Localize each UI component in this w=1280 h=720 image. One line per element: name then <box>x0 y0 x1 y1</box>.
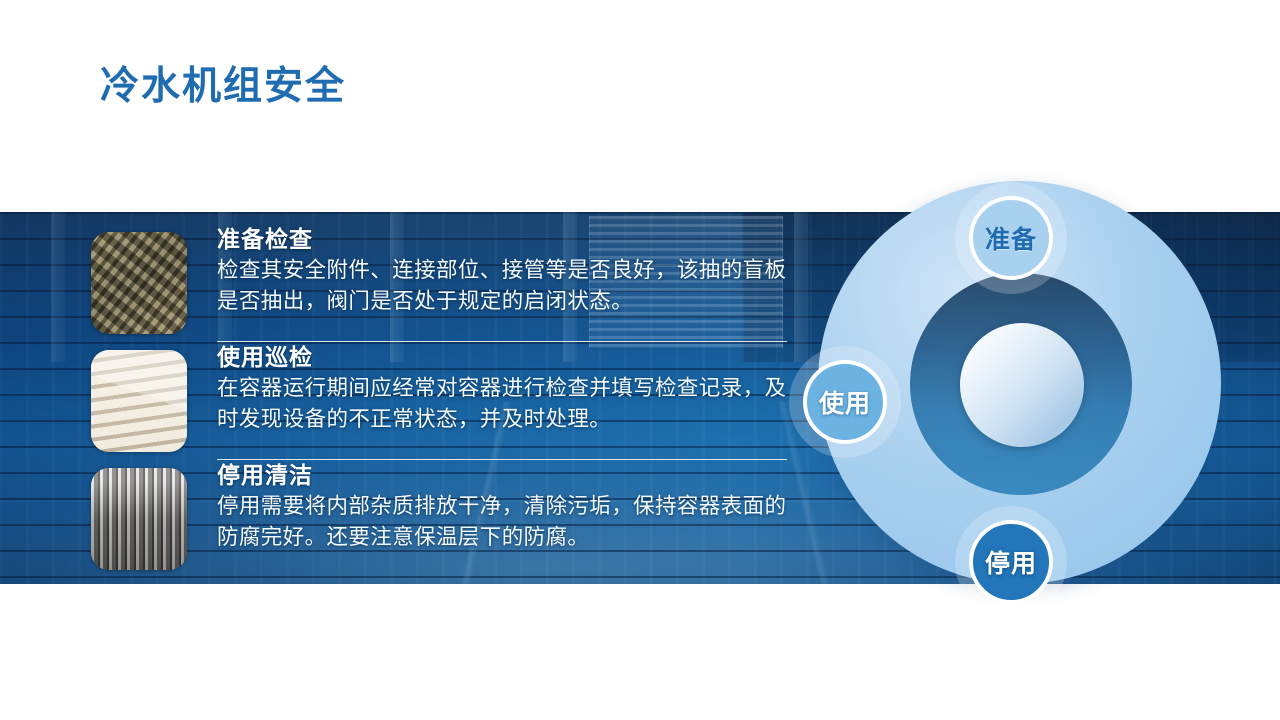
list-item-text: 准备检查 检查其安全附件、连接部位、接管等是否良好，该抽的盲板是否抽出，阀门是否… <box>217 226 789 316</box>
thumbnail-image <box>91 350 187 452</box>
section-divider <box>217 459 787 460</box>
stage-badge-stop[interactable]: 停用 <box>969 520 1053 604</box>
stacked-metal-sheets-photo <box>91 350 187 452</box>
thumbnail-image <box>91 468 187 570</box>
content-list: 准备检查 检查其安全附件、连接部位、接管等是否良好，该抽的盲板是否抽出，阀门是否… <box>0 212 820 584</box>
page-title: 冷水机组安全 <box>100 55 346 111</box>
section-heading: 停用清洁 <box>217 462 789 489</box>
three-stage-donut-diagram: 准备 使用 停用 <box>810 168 1220 638</box>
list-item[interactable]: 使用巡检 在容器运行期间应经常对容器进行检查并填写检查记录，及时发现设备的不正常… <box>0 344 820 462</box>
section-body: 停用需要将内部杂质排放干净，清除污垢，保持容器表面的防腐完好。还要注意保温层下的… <box>217 491 789 552</box>
section-divider <box>217 341 787 342</box>
section-body: 检查其安全附件、连接部位、接管等是否良好，该抽的盲板是否抽出，阀门是否处于规定的… <box>217 255 789 316</box>
section-body: 在容器运行期间应经常对容器进行检查并填写检查记录，及时发现设备的不正常状态，并及… <box>217 373 789 434</box>
section-heading: 使用巡检 <box>217 344 789 371</box>
list-item[interactable]: 准备检查 检查其安全附件、连接部位、接管等是否良好，该抽的盲板是否抽出，阀门是否… <box>0 226 820 344</box>
section-heading: 准备检查 <box>217 226 789 253</box>
donut-center-circle <box>960 323 1084 447</box>
list-item-text: 使用巡检 在容器运行期间应经常对容器进行检查并填写检查记录，及时发现设备的不正常… <box>217 344 789 434</box>
industrial-machinery-photo <box>91 232 187 334</box>
stage-badge-prepare[interactable]: 准备 <box>969 196 1053 280</box>
list-item-text: 停用清洁 停用需要将内部杂质排放干净，清除污垢，保持容器表面的防腐完好。还要注意… <box>217 462 789 552</box>
thumbnail-image <box>91 232 187 334</box>
slide-root: 冷水机组安全 准备检查 检查其安全附件、连接部位、接管等是否良好，该抽的盲板是否… <box>0 0 1280 720</box>
stage-badge-use[interactable]: 使用 <box>803 360 887 444</box>
list-item[interactable]: 停用清洁 停用需要将内部杂质排放干净，清除污垢，保持容器表面的防腐完好。还要注意… <box>0 462 820 580</box>
metal-tubes-bundle-photo <box>91 468 187 570</box>
